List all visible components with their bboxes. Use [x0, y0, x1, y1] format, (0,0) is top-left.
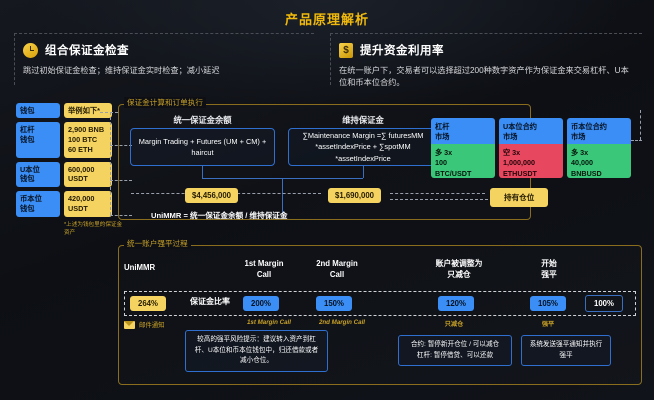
- position-amount: 1,000,000: [503, 158, 559, 168]
- stage-title-2nd-margin-call: 2nd MarginCall: [301, 258, 373, 281]
- position-amount: 100: [435, 158, 491, 168]
- wallet-row-key: 钱包: [16, 103, 60, 118]
- connector-line: [363, 166, 364, 178]
- note-box-risk-warning: 较高的强平风险提示：建议转入资产到杠杆、U本位和币本位钱包中，归还借款或者减小仓…: [185, 330, 328, 372]
- table-row: 钱包 举例如下*: [16, 103, 112, 118]
- position-side: 多 3x: [435, 148, 491, 158]
- balance-amount-chip: $4,456,000: [185, 188, 238, 203]
- unimmr-label: UniMMR: [124, 262, 155, 273]
- note-box-liquidation: 系统发送强平通知并执行强平: [521, 335, 611, 366]
- threshold-chip-200: 200%: [243, 296, 279, 311]
- table-row: U本位钱包 600,000USDT: [16, 162, 112, 188]
- table-row: 杠杆钱包 2,900 BNB100 BTC60 ETH: [16, 122, 112, 158]
- position-side: 空 3x: [503, 148, 559, 158]
- dollar-icon: $: [339, 43, 353, 58]
- connector-vertical: [640, 110, 641, 140]
- wallet-table: 钱包 举例如下* 杠杆钱包 2,900 BNB100 BTC60 ETH U本位…: [16, 103, 112, 237]
- wallet-row-key: 币本位钱包: [16, 191, 60, 217]
- position-side: 多 3x: [571, 148, 627, 158]
- maintenance-column-title: 维持保证金: [288, 114, 438, 126]
- threshold-chip-105: 105%: [530, 296, 566, 311]
- position-symbol: ETHUSDT: [503, 169, 559, 179]
- feature-header: $ 提升资金利用率: [339, 42, 638, 58]
- wallet-row-value: 420,000USDT: [64, 191, 112, 217]
- clock-icon: [23, 43, 38, 58]
- panel-label: 统一账户强平过程: [124, 238, 191, 249]
- unimmr-equation: UniMMR = 统一保证金余额 / 维持保证金: [151, 210, 287, 221]
- sub-label-1st-margin-call: 1st Margin Call: [232, 319, 306, 326]
- market-box-usdm: U本位合约市场 空 3x 1,000,000 ETHUSDT: [499, 118, 563, 178]
- wallet-row-key: U本位钱包: [16, 162, 60, 188]
- connector-horizontal: [390, 199, 488, 200]
- feature-description: 在统一账户下，交易者可以选择超过200种数字资产作为保证金来交易杠杆、U本位和币…: [339, 65, 629, 90]
- margin-ratio-label: 保证金比率: [190, 296, 230, 307]
- threshold-chip-120: 120%: [438, 296, 474, 311]
- stage-title-1st-margin-call: 1st MarginCall: [228, 258, 300, 281]
- infographic-root: 产品原理解析 组合保证金检查 跳过初始保证金检查；维持保证金实时检查；减小延迟 …: [0, 0, 654, 400]
- stage-title-liquidation: 开始强平: [520, 258, 578, 281]
- market-position: 空 3x 1,000,000 ETHUSDT: [499, 144, 563, 178]
- threshold-chip-150: 150%: [316, 296, 352, 311]
- market-box-coinm: 币本位合约市场 多 3x 40,000 BNBUSD: [567, 118, 631, 178]
- sub-label-liquidation: 强平: [528, 319, 568, 328]
- maintenance-amount-chip: $1,690,000: [328, 188, 381, 203]
- balance-column-title: 统一保证金余额: [130, 114, 275, 126]
- connector-horizontal: [100, 112, 118, 113]
- market-position: 多 3x 100 BTC/USDT: [431, 144, 495, 178]
- wallet-table-note: *上述为钱包里的保证金资产: [64, 221, 124, 237]
- table-row: 币本位钱包 420,000USDT: [16, 191, 112, 217]
- feature-title: 组合保证金检查: [45, 42, 129, 58]
- note-box-reduce-only: 合约: 暂停新开仓位 / 可以减仓杠杆: 暂停借贷、可以还款: [398, 335, 512, 366]
- mail-notification-row: 邮件通知: [124, 320, 165, 329]
- hold-position-chip: 持有仓位: [490, 188, 548, 207]
- market-name: U本位合约市场: [499, 118, 563, 144]
- connector-horizontal: [631, 140, 642, 141]
- balance-formula-box: Margin Trading + Futures (UM + CM) + hai…: [130, 128, 275, 166]
- wallet-row-value: 600,000USDT: [64, 162, 112, 188]
- position-amount: 40,000: [571, 158, 627, 168]
- feature-description: 跳过初始保证金检查；维持保证金实时检查；减小延迟: [23, 65, 310, 77]
- mail-notification-label: 邮件通知: [139, 320, 165, 329]
- page-title: 产品原理解析: [0, 9, 654, 28]
- feature-header: 组合保证金检查: [23, 42, 310, 58]
- feature-block-capital-efficiency: $ 提升资金利用率 在统一账户下，交易者可以选择超过200种数字资产作为保证金来…: [330, 33, 642, 85]
- market-name: 杠杆市场: [431, 118, 495, 144]
- connector-line: [282, 178, 283, 214]
- sub-label-reduce-only: 只减仓: [432, 319, 476, 328]
- sub-label-2nd-margin-call: 2nd Margin Call: [305, 319, 379, 326]
- wallet-row-value: 举例如下*: [64, 103, 112, 118]
- mail-icon: [124, 321, 135, 329]
- wallet-row-value: 2,900 BNB100 BTC60 ETH: [64, 122, 112, 158]
- market-name: 币本位合约市场: [567, 118, 631, 144]
- current-ratio-chip: 264%: [130, 296, 166, 311]
- connector-horizontal: [390, 193, 485, 194]
- threshold-chip-100: 100%: [585, 295, 623, 312]
- wallet-row-key: 杠杆钱包: [16, 122, 60, 158]
- market-position: 多 3x 40,000 BNBUSD: [567, 144, 631, 178]
- connector-line: [202, 166, 203, 178]
- position-symbol: BNBUSD: [571, 169, 627, 179]
- market-box-margin: 杠杆市场 多 3x 100 BTC/USDT: [431, 118, 495, 178]
- panel-label: 保证金计算和订单执行: [124, 97, 206, 108]
- feature-block-margin-check: 组合保证金检查 跳过初始保证金检查；维持保证金实时检查；减小延迟: [14, 33, 314, 85]
- maintenance-formula-box: ∑Maintenance Margin =∑ futuresMM *assetI…: [288, 128, 438, 166]
- position-symbol: BTC/USDT: [435, 169, 491, 179]
- feature-title: 提升资金利用率: [360, 42, 444, 58]
- connector-vertical: [110, 112, 111, 215]
- stage-title-reduce-only: 账户被调整为只减仓: [413, 258, 505, 281]
